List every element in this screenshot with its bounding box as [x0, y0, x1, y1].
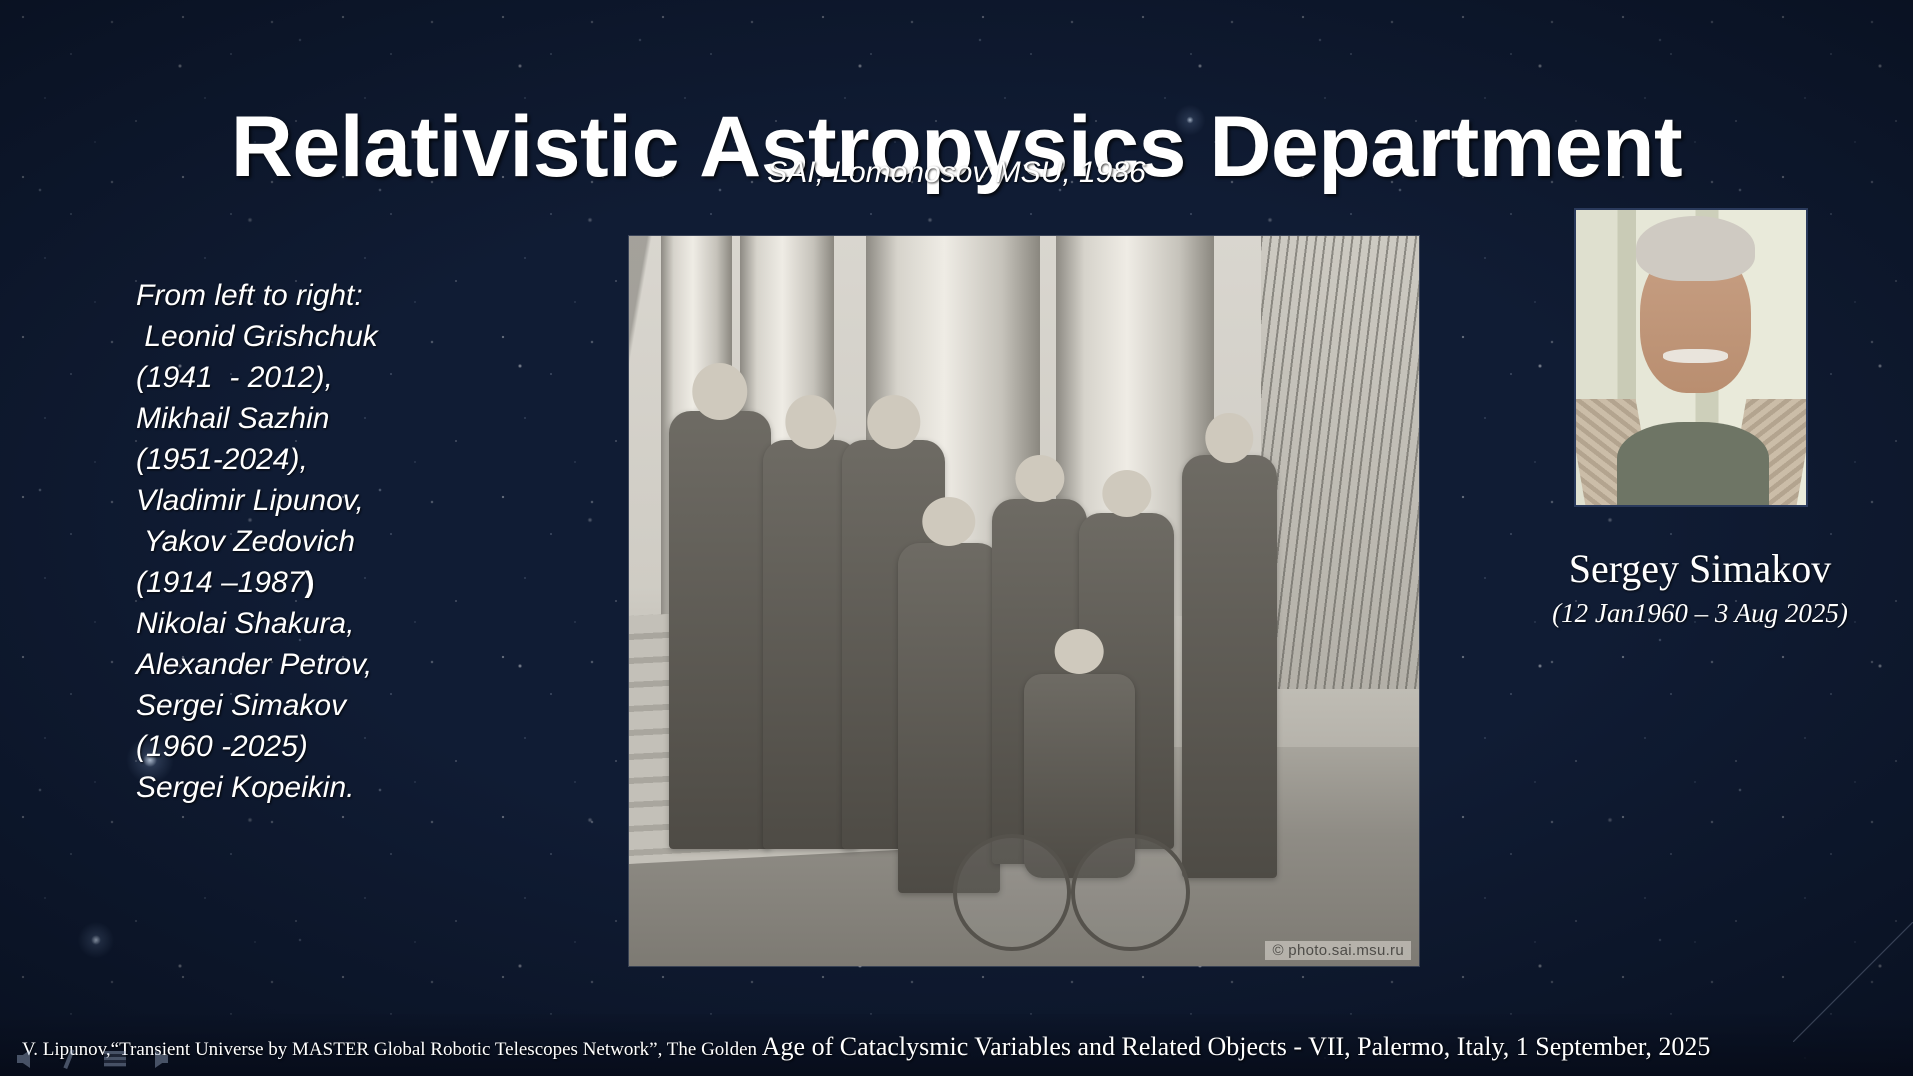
caption-line: Mikhail Sazhin [136, 398, 496, 439]
caption-line: Alexander Petrov, [136, 644, 496, 685]
footer-citation: V. Lipunov,“Transient Universe by MASTER… [22, 1034, 1891, 1060]
caption-line: (1951-2024), [136, 439, 496, 480]
caption-line: Sergei Simakov [136, 685, 496, 726]
slide-menu-button[interactable] [100, 1048, 130, 1070]
portrait-name: Sergey Simakov [1500, 545, 1900, 592]
arrow-right-icon [155, 1050, 168, 1068]
person-head [922, 497, 975, 546]
presentation-slide: Relativistic Astropysics Department SAI,… [0, 0, 1913, 1076]
portrait-shirt [1617, 422, 1769, 505]
pen-icon [63, 1049, 74, 1069]
slide-subtitle: SAI, Lomonosov MSU, 1986 [0, 156, 1913, 190]
caption-line: Sergei Kopeikin. [136, 767, 496, 808]
footer-citation-large: Age of Cataclysmic Variables and Related… [762, 1032, 1711, 1061]
group-photo: © photo.sai.msu.ru [629, 236, 1419, 966]
menu-icon [104, 1051, 126, 1067]
person-leonid-grishchuk [669, 411, 772, 849]
person-head [1206, 413, 1253, 464]
caption-bold-paren: ) [305, 566, 315, 599]
person-head [1055, 629, 1104, 674]
caption-line: From left to right: [136, 275, 496, 316]
portrait-photo [1574, 208, 1808, 507]
portrait-mustache [1663, 349, 1727, 364]
caption-line: (1941 - 2012), [136, 357, 496, 398]
next-slide-button[interactable] [146, 1048, 176, 1070]
caption-line: Vladimir Lipunov, [136, 480, 496, 521]
arrow-left-icon [17, 1050, 30, 1068]
caption-text-block: From left to right: Leonid Grishchuk(194… [136, 275, 496, 808]
photo-watermark: © photo.sai.msu.ru [1265, 941, 1411, 960]
person-head [867, 395, 920, 448]
caption-line: Leonid Grishchuk [136, 316, 496, 357]
caption-line: (1914 –1987) [136, 562, 496, 603]
background-trees [1261, 236, 1419, 689]
caption-line: Nikolai Shakura, [136, 603, 496, 644]
person-sergei-kopeikin [1182, 455, 1277, 878]
portrait-hair [1636, 216, 1756, 281]
caption-line: Yakov Zedovich [136, 521, 496, 562]
person-head [785, 395, 836, 448]
person-head [1102, 470, 1151, 517]
pen-tool-button[interactable] [54, 1048, 84, 1070]
caption-line: (1960 -2025) [136, 726, 496, 767]
slideshow-navigation-controls[interactable] [8, 1048, 176, 1070]
portrait-dates: (12 Jan1960 – 3 Aug 2025) [1490, 598, 1910, 629]
wheelchair-wheel-right [1071, 834, 1190, 952]
wheelchair-wheel-left [953, 834, 1072, 952]
previous-slide-button[interactable] [8, 1048, 38, 1070]
person-head [692, 363, 747, 420]
